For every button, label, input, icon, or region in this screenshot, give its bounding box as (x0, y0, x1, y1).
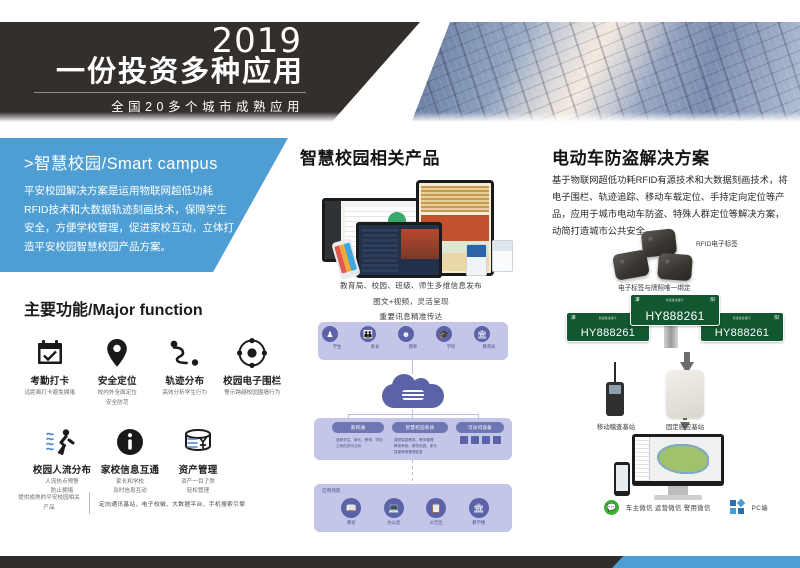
major-function-grid: 考勤打卡 远距离打卡避免拥堵 安全定位 校内外全面定位 安全防范 (16, 336, 286, 497)
info-circle-icon (96, 425, 164, 459)
flow-card-desc: 课堂智能教务、教务管理 教育考勤、教务校园、家长 智能教育管理信息 (394, 437, 448, 455)
plate-province: 潭 (571, 315, 576, 321)
bottom-bar-dark (0, 556, 640, 568)
middle-caption: 教育局、校园、班级、师生多维信息发布 图文+视频，灵活呈现 重要讯息精准传达 (300, 278, 522, 325)
plate-post (664, 324, 678, 348)
banner-divider (34, 92, 306, 93)
banner-text-group: 2019 一份投资多种应用 全国20多个城市成熟应用 (0, 22, 330, 122)
scenario-hall[interactable]: 📋 公告区 (426, 498, 446, 526)
flow-role-teacher[interactable]: ☻ 教师 (398, 326, 428, 350)
scenario-label: 教室 (341, 520, 361, 526)
flow-role-edu-bureau[interactable]: 🏛 教育局 (474, 326, 504, 350)
rfid-tags-group: RFID电子标签 电子标签与牌照唯一绑定 (600, 228, 790, 292)
plate-number: HY888261 (631, 309, 719, 323)
plate-micro: 防盗备案编号 (733, 316, 751, 320)
flow-role-label: 家长 (360, 344, 390, 350)
function-item-info[interactable]: 家校信息互通 家长和学校 及时信息互动 (96, 425, 164, 498)
tablet-device (356, 222, 442, 278)
rfid-tag-2 (612, 249, 650, 281)
banner-fade (0, 112, 800, 122)
school-icon: 🎓 (436, 326, 452, 342)
fixed-station-device (666, 370, 704, 418)
right-title: 电动车防盗解决方案 (552, 144, 710, 169)
flow-device-icons (460, 436, 501, 444)
classroom-icon: 📖 (341, 498, 361, 518)
function-label: 安全定位 (84, 373, 152, 387)
cloud-platform-icon (382, 372, 444, 410)
flow-role-student[interactable]: ♟ 学生 (322, 326, 352, 350)
handheld-label: 移动稽查基站 (588, 422, 644, 431)
wristband-icon (460, 436, 468, 444)
database-asset-icon (164, 425, 232, 459)
flow-roles-box: ♟ 学生 👪 家长 ☻ 教师 🎓 学校 🏛 教育局 (318, 322, 508, 360)
wechat-icon: 💬 (604, 500, 619, 515)
library-icon: 🏛 (469, 498, 489, 518)
function-label: 资产管理 (164, 462, 232, 476)
flow-scenarios-box: 应用场景 📖 教室 💻 办公室 📋 公告区 🏛 教学楼 (314, 484, 512, 532)
major-function-row-1: 考勤打卡 远距离打卡避免拥堵 安全定位 校内外全面定位 安全防范 (16, 336, 286, 409)
left-footer: 提供成熟的平安校园相关产品 定向通讯基站、电子校徽、大数据平台、手机搜索引擎 (18, 492, 245, 514)
student-card-2 (492, 240, 513, 272)
function-item-attendance[interactable]: 考勤打卡 远距离打卡避免拥堵 (16, 336, 84, 409)
mobile-device (614, 462, 630, 496)
scenario-office[interactable]: 💻 办公室 (384, 498, 404, 526)
smart-campus-body: 平安校园解决方案是运用物联网超低功耗RFID技术和大数据轨迹刻画技术，保障学生安… (24, 182, 236, 257)
right-footer: 💬 车主微信 运营微信 警用微信 PC端 (604, 500, 768, 515)
monitor-icon (471, 436, 479, 444)
function-label: 家校信息互通 (96, 462, 164, 476)
flow-card-desc: 追踪学生、家长、教师、学校之间的多向互动 (336, 437, 386, 449)
monitor-device (632, 434, 724, 502)
pc-label: PC端 (752, 503, 768, 512)
function-label: 校园电子围栏 (219, 373, 287, 387)
flow-diagram: ♟ 学生 👪 家长 ☻ 教师 🎓 学校 🏛 教育局 (302, 322, 522, 522)
banner-headline: 一份投资多种应用 (56, 58, 304, 87)
plate-number: HY888261 (701, 327, 783, 339)
flow-card-jiaxiaotong[interactable]: 家校通 (332, 422, 384, 433)
handheld-reader-device (606, 362, 624, 418)
flow-role-school[interactable]: 🎓 学校 (436, 326, 466, 350)
rfid-bind-label: 电子标签与牌照唯一绑定 (618, 282, 691, 292)
flow-card-campus-system[interactable]: 智慧校园系统 (392, 422, 448, 433)
product-devices-photo (306, 178, 524, 278)
plate-micro: 防盗备案编号 (666, 298, 684, 302)
plate-number: HY888261 (567, 327, 649, 339)
license-plates-group: 潭 防盗备案编号 阳 HY888261 潭 防盗备案编号 阳 HY888261 … (566, 306, 790, 356)
flow-role-parents[interactable]: 👪 家长 (360, 326, 390, 350)
student-card-1 (466, 244, 487, 276)
top-banner: 2019 一份投资多种应用 全国20多个城市成熟应用 (0, 22, 800, 122)
flow-role-label: 学生 (322, 344, 352, 350)
bottom-bar (0, 556, 800, 568)
flow-connector-spread (348, 414, 478, 415)
plate-province-2: 阳 (710, 297, 715, 303)
pc-icon (730, 500, 745, 515)
smart-campus-title: >智慧校园/Smart campus (24, 150, 218, 174)
function-item-people-flow[interactable]: 校园人流分布 人流热点预警 防止拥堵 (28, 425, 96, 498)
function-item-positioning[interactable]: 安全定位 校内外全面定位 安全防范 (84, 336, 152, 409)
flow-role-label: 教师 (398, 344, 428, 350)
function-item-efence[interactable]: 校园电子围栏 警示跨越校园围墙行为 (219, 336, 287, 409)
plate-province-2: 阳 (774, 315, 779, 321)
student-icon: ♟ (322, 326, 338, 342)
scenario-label: 公告区 (426, 520, 446, 526)
function-desc: 远距离打卡避免拥堵 (16, 389, 84, 399)
calendar-check-icon (16, 336, 84, 370)
flow-connector-bottom (412, 460, 413, 484)
flow-role-label: 学校 (436, 344, 466, 350)
flow-systems-box: 家校通 智慧校园系统 可访问设备 追踪学生、家长、教师、学校之间的多向互动 课堂… (314, 418, 512, 460)
license-plate-center: 潭 防盗备案编号 阳 HY888261 (630, 294, 720, 326)
people-flow-icon (28, 425, 96, 459)
rfid-tag-3 (657, 253, 693, 281)
plate-province: 潭 (635, 297, 640, 303)
function-item-track[interactable]: 轨迹分布 高效分析学生行为 (151, 336, 219, 409)
office-icon: 💻 (384, 498, 404, 518)
left-footer-label: 提供成熟的平安校园相关产品 (18, 493, 80, 513)
map-pin-icon (84, 336, 152, 370)
function-desc: 高效分析学生行为 (151, 389, 219, 399)
function-desc: 校内外全面定位 安全防范 (84, 389, 152, 409)
function-desc: 警示跨越校园围墙行为 (219, 389, 287, 399)
function-label: 校园人流分布 (28, 462, 96, 476)
major-function-row-2: 校园人流分布 人流热点预警 防止拥堵 家校信息互通 家长和学校 及时信息互动 (16, 425, 286, 498)
major-function-title: 主要功能/Major function (24, 296, 203, 320)
left-footer-products: 定向通讯基站、电子校徽、大数据平台、手机搜索引擎 (99, 499, 245, 508)
flow-card-devices[interactable]: 可访问设备 (456, 422, 504, 433)
function-label: 考勤打卡 (16, 373, 84, 387)
parents-icon: 👪 (360, 326, 376, 342)
teacher-icon: ☻ (398, 326, 414, 342)
function-label: 轨迹分布 (151, 373, 219, 387)
rfid-tag-label: RFID电子标签 (696, 238, 738, 248)
poster-page: 2019 一份投资多种应用 全国20多个城市成熟应用 >智慧校园/Smart c… (0, 0, 800, 568)
bottom-bar-blue (612, 556, 800, 568)
hall-icon: 📋 (426, 498, 446, 518)
middle-title: 智慧校园相关产品 (300, 144, 440, 169)
flow-scenarios-label: 应用场景 (322, 488, 340, 494)
smart-campus-panel: >智慧校园/Smart campus 平安校园解决方案是运用物联网超低功耗RFI… (0, 138, 288, 272)
wechat-label: 车主微信 运营微信 警用微信 (626, 503, 711, 512)
station-label: 固定感应基站 (656, 422, 714, 431)
edu-bureau-icon: 🏛 (474, 326, 490, 342)
function-item-asset[interactable]: 资产管理 资产一目了然 轻松管理 (164, 425, 232, 498)
phone-icon (493, 436, 501, 444)
tablet-icon (482, 436, 490, 444)
scenario-classroom[interactable]: 📖 教室 (341, 498, 361, 526)
scenario-library[interactable]: 🏛 教学楼 (469, 498, 489, 526)
flow-role-label: 教育局 (474, 344, 504, 350)
route-track-icon (151, 336, 219, 370)
left-footer-divider (89, 492, 90, 514)
electronic-fence-icon (219, 336, 287, 370)
scenario-label: 办公室 (384, 520, 404, 526)
scenario-label: 教学楼 (469, 520, 489, 526)
plate-micro: 防盗备案编号 (599, 316, 617, 320)
banner-year: 2019 (211, 24, 302, 58)
